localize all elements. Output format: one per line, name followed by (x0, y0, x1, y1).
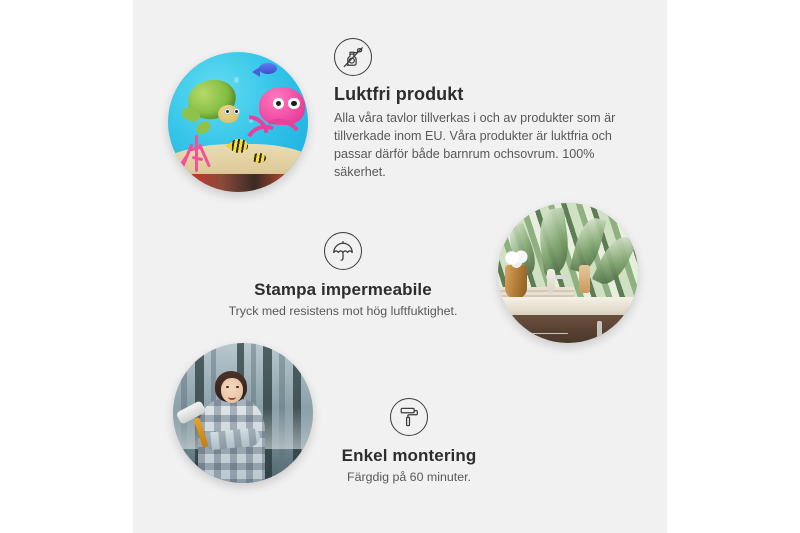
no-fragrance-icon (334, 38, 372, 76)
feature-body: Tryck med resistens mot hög luftfuktighe… (213, 303, 473, 321)
feature-body: Färgdig på 60 minuter. (300, 469, 518, 487)
paint-roller-icon (390, 398, 428, 436)
feature-waterproof: Stampa impermeabile Tryck med resistens … (213, 232, 473, 321)
coral (179, 130, 215, 172)
umbrella-icon (324, 232, 362, 270)
installer-artwork (173, 343, 313, 483)
promo-banner: Luktfri produkt Alla våra tavlor tillver… (0, 0, 800, 533)
feature-easy: Enkel montering Färgdig på 60 minuter. (300, 398, 518, 487)
image-underwater (168, 52, 308, 192)
feature-odourless: Luktfri produkt Alla våra tavlor tillver… (334, 38, 626, 182)
feature-title: Luktfri produkt (334, 83, 626, 106)
image-installer (173, 343, 313, 483)
feature-title: Enkel montering (300, 445, 518, 466)
feature-body: Alla våra tavlor tillverkas i och av pro… (334, 109, 626, 182)
feature-title: Stampa impermeabile (213, 279, 473, 300)
underwater-artwork (168, 52, 308, 192)
image-bathroom (498, 203, 638, 343)
bathroom-artwork (498, 203, 638, 343)
